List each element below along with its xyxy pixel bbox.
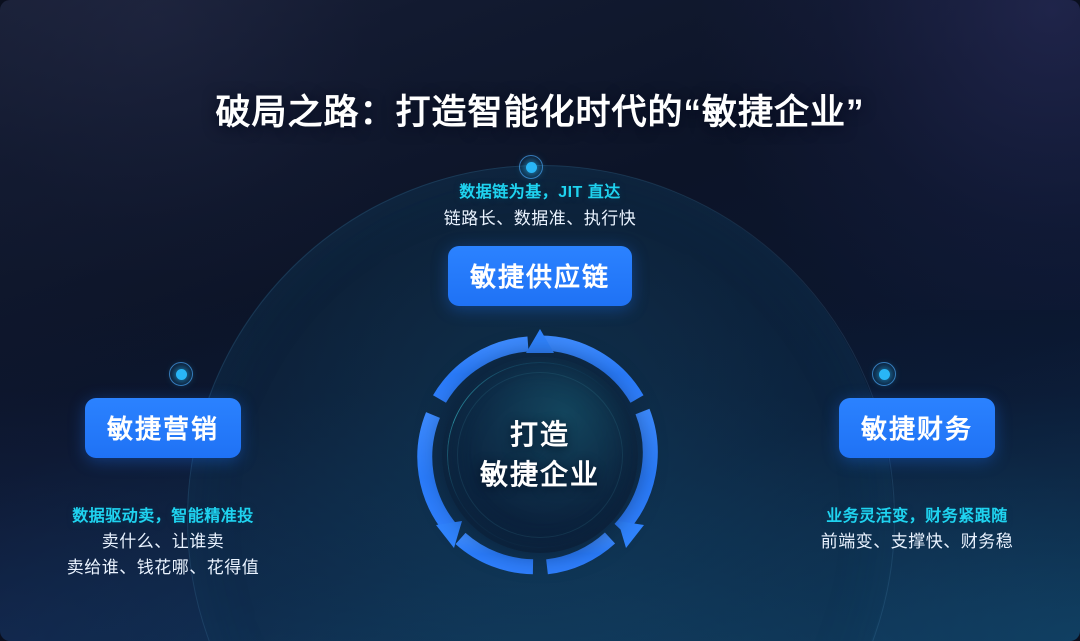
branch-supply-chain-lede: 数据链为基，JIT 直达 — [330, 178, 750, 202]
node-dot-top — [519, 155, 543, 179]
slide-canvas: 破局之路：打造智能化时代的“敏捷企业” — [0, 0, 1080, 641]
branch-finance: 敏捷财务 业务灵活变，财务紧跟随 前端变、支撑快、财务稳 — [772, 398, 1062, 555]
pill-agile-supply-chain[interactable]: 敏捷供应链 — [448, 246, 632, 306]
emblem-core-sphere — [442, 357, 638, 553]
branch-marketing-lede: 数据驱动卖，智能精准投 — [18, 502, 308, 526]
branch-supply-chain: 数据链为基，JIT 直达 链路长、数据准、执行快 敏捷供应链 — [330, 178, 750, 306]
branch-finance-sub-1: 前端变、支撑快、财务稳 — [772, 529, 1062, 555]
center-emblem: 打造 敏捷企业 — [414, 329, 666, 581]
page-title: 破局之路：打造智能化时代的“敏捷企业” — [0, 84, 1080, 135]
node-dot-right — [872, 362, 896, 386]
branch-marketing: 敏捷营销 数据驱动卖，智能精准投 卖什么、让谁卖 卖给谁、钱花哪、花得值 — [18, 398, 308, 581]
background-glow-top-left — [0, 0, 380, 270]
branch-finance-pill-wrap: 敏捷财务 — [772, 398, 1062, 458]
branch-marketing-sub-2: 卖给谁、钱花哪、花得值 — [18, 555, 308, 581]
pill-agile-finance[interactable]: 敏捷财务 — [839, 398, 995, 458]
branch-supply-chain-sub: 链路长、数据准、执行快 — [330, 206, 750, 232]
branch-marketing-sub-1: 卖什么、让谁卖 — [18, 529, 308, 555]
branch-marketing-pill-wrap: 敏捷营销 — [18, 398, 308, 458]
branch-finance-lede: 业务灵活变，财务紧跟随 — [772, 502, 1062, 526]
node-dot-left — [169, 362, 193, 386]
branch-supply-chain-pill-wrap: 敏捷供应链 — [330, 232, 750, 306]
pill-agile-marketing[interactable]: 敏捷营销 — [85, 398, 241, 458]
